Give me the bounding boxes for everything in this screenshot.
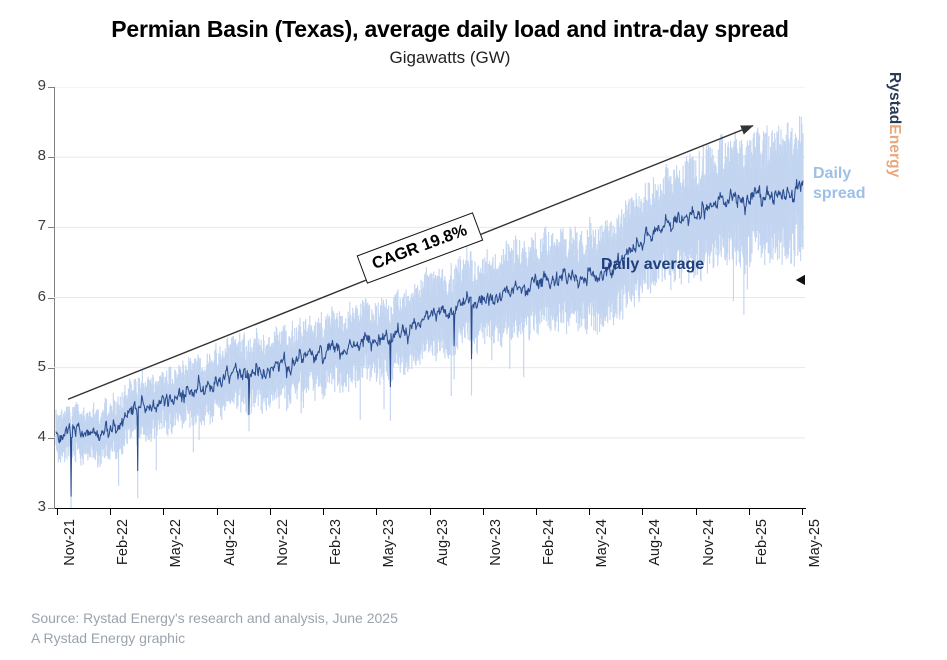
x-tick-label: Nov-22 xyxy=(276,519,291,566)
y-tick-mark xyxy=(48,227,55,228)
daily-spread-label-line2: spread xyxy=(813,185,865,202)
x-tick-mark xyxy=(696,508,697,515)
x-tick-mark xyxy=(483,508,484,515)
page-title: Permian Basin (Texas), average daily loa… xyxy=(0,16,900,43)
x-tick-mark xyxy=(376,508,377,515)
y-axis-labels: 3456789 xyxy=(10,87,46,508)
x-tick-mark xyxy=(163,508,164,515)
x-tick-label: Feb-24 xyxy=(542,519,557,565)
x-tick-mark xyxy=(57,508,58,515)
rystad-energy-logo: RystadEnergy xyxy=(885,72,903,177)
footer-source: Source: Rystad Energy's research and ana… xyxy=(31,608,398,628)
x-tick-label: Aug-22 xyxy=(223,519,238,566)
x-tick-label: Nov-23 xyxy=(489,519,504,566)
x-tick-label: May-23 xyxy=(382,519,397,567)
chart-canvas xyxy=(54,87,805,508)
y-tick-label: 7 xyxy=(16,218,46,233)
x-tick-mark xyxy=(217,508,218,515)
y-tick-mark xyxy=(48,438,55,439)
x-tick-mark xyxy=(430,508,431,515)
x-tick-mark xyxy=(536,508,537,515)
daily-spread-series-label: Daily spread xyxy=(813,164,865,204)
chart-subtitle: Gigawatts (GW) xyxy=(0,48,900,68)
daily-spread-label-line1: Daily xyxy=(813,165,851,182)
x-tick-label: May-25 xyxy=(808,519,823,567)
daily-spread-band xyxy=(56,116,803,508)
x-tick-label: Nov-21 xyxy=(63,519,78,566)
y-tick-label: 6 xyxy=(16,289,46,304)
plot-area xyxy=(54,87,805,508)
y-tick-mark xyxy=(48,508,55,509)
y-tick-label: 5 xyxy=(16,359,46,374)
footer: Source: Rystad Energy's research and ana… xyxy=(31,608,398,649)
x-tick-label: Aug-23 xyxy=(436,519,451,566)
x-tick-mark xyxy=(749,508,750,515)
x-tick-mark xyxy=(589,508,590,515)
y-tick-label: 8 xyxy=(16,148,46,163)
footer-credit: A Rystad Energy graphic xyxy=(31,628,398,648)
y-tick-label: 9 xyxy=(16,78,46,93)
x-tick-mark xyxy=(270,508,271,515)
y-tick-label: 3 xyxy=(16,499,46,514)
x-tick-mark xyxy=(323,508,324,515)
y-tick-label: 4 xyxy=(16,429,46,444)
logo-secondary-text: Energy xyxy=(886,124,903,177)
x-tick-mark xyxy=(642,508,643,515)
x-tick-label: Feb-25 xyxy=(755,519,770,565)
y-tick-mark xyxy=(48,87,55,88)
x-tick-mark xyxy=(110,508,111,515)
x-tick-label: May-24 xyxy=(595,519,610,567)
y-tick-mark xyxy=(48,157,55,158)
x-tick-label: Feb-22 xyxy=(116,519,131,565)
y-tick-mark xyxy=(48,298,55,299)
x-tick-label: Feb-23 xyxy=(329,519,344,565)
x-tick-label: Aug-24 xyxy=(648,519,663,566)
chart-page: Permian Basin (Texas), average daily loa… xyxy=(0,0,947,660)
y-tick-mark xyxy=(48,368,55,369)
daily-average-series-label: Daily average xyxy=(601,256,704,274)
x-tick-label: Nov-24 xyxy=(702,519,717,566)
logo-primary-text: Rystad xyxy=(886,72,903,124)
x-tick-label: May-22 xyxy=(169,519,184,567)
x-tick-mark xyxy=(802,508,803,515)
